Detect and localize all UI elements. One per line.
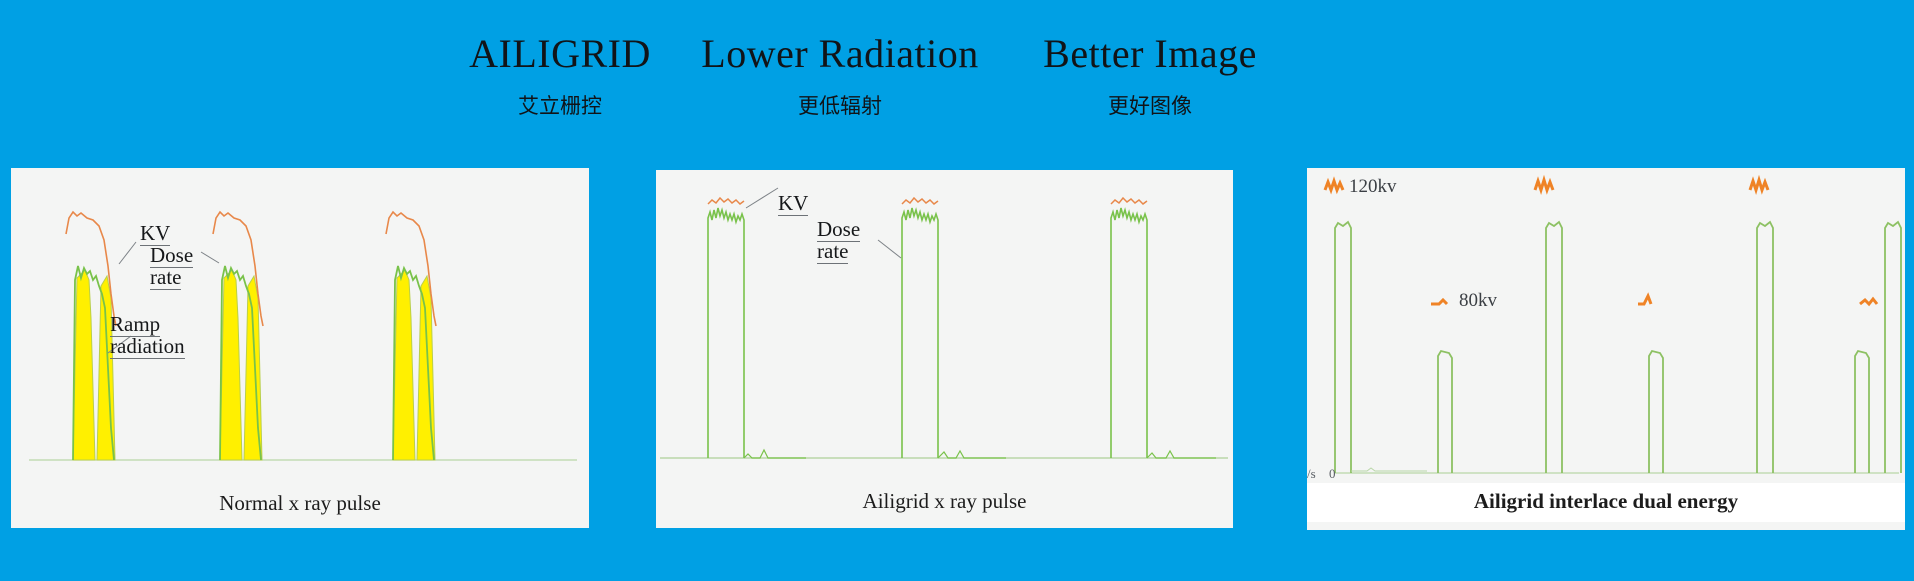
baseline-ripple	[938, 451, 1006, 458]
kv-marker-high	[1325, 181, 1343, 190]
kv-marker-high	[1535, 180, 1553, 190]
annotation-kv-label: KV	[778, 191, 808, 216]
annotation-dose-rate-label: Dose rate	[150, 243, 193, 290]
header-banner: AILIGRID 艾立栅控 Lower Radiation 更低辐射 Bette…	[0, 0, 1914, 140]
header-title-en: Better Image	[960, 34, 1340, 74]
ramp-radiation-area	[73, 270, 95, 460]
panel-caption: Normal x ray pulse	[11, 491, 589, 516]
annotation-dose-rate-label: Dose rate	[817, 217, 860, 264]
chart-ailigrid-interlace-dual-energy	[1307, 168, 1905, 530]
annotation-ramp-radiation-label: Ramp radiation	[110, 312, 185, 359]
ramp-radiation-area	[220, 270, 242, 460]
dose-pulse-high	[1546, 222, 1562, 473]
dose-rate-trace	[902, 208, 938, 458]
panel-caption: Ailigrid x ray pulse	[656, 489, 1233, 514]
dose-pulse-low	[1438, 351, 1452, 473]
panel-ailigrid-x-ray-pulse: KV Dose rate Ailigrid x ray pulse	[656, 170, 1233, 528]
chart-ailigrid-x-ray-pulse	[656, 170, 1233, 528]
kv-trace	[708, 198, 744, 204]
dose-rate-trace	[1111, 208, 1147, 458]
ramp-radiation-area	[393, 270, 415, 460]
leader-line-kv	[746, 188, 778, 208]
chart-normal-x-ray-pulse	[11, 168, 589, 528]
axis-zero-label: 0	[1329, 466, 1336, 482]
kv-marker-low	[1638, 296, 1651, 304]
baseline-ripple	[1351, 468, 1427, 471]
baseline-ripple	[744, 450, 806, 458]
dose-rate-trace	[708, 208, 744, 458]
annotation-dose-rate: Dose rate	[817, 196, 860, 262]
annotation-ramp-radiation: Ramp radiation	[110, 291, 185, 357]
kv-marker-low	[1431, 300, 1447, 304]
panel-normal-x-ray-pulse: KV Dose rate Ramp radiation Normal x ray…	[11, 168, 589, 528]
dose-pulse-high	[1757, 222, 1773, 473]
header-title-zh: 更好图像	[960, 90, 1340, 120]
panel-ailigrid-interlace-dual-energy: 120kv 80kv /s 0 Ailigrid interlace dual …	[1307, 168, 1905, 530]
dose-pulse-high	[1335, 222, 1351, 473]
kv-trace	[902, 198, 938, 204]
kv-marker-high	[1750, 180, 1768, 190]
legend-label-120kv: 120kv	[1349, 176, 1397, 198]
leader-line-dose-rate	[878, 240, 901, 258]
dose-pulse-high	[1885, 222, 1901, 473]
leader-line-dose-rate	[201, 252, 219, 263]
leader-line-kv	[119, 242, 136, 264]
kv-trace	[1111, 198, 1147, 204]
kv-marker-low	[1860, 299, 1877, 304]
baseline-ripple	[1147, 451, 1216, 458]
axis-unit-label: /s	[1307, 466, 1316, 482]
panel-caption: Ailigrid interlace dual energy	[1307, 483, 1905, 522]
header-column-better-image: Better Image 更好图像	[960, 34, 1340, 120]
dose-pulse-low	[1855, 351, 1869, 473]
legend-label-80kv: 80kv	[1459, 290, 1497, 312]
annotation-dose-rate: Dose rate	[150, 222, 193, 288]
annotation-kv: KV	[778, 170, 808, 214]
dose-pulse-low	[1649, 351, 1663, 473]
